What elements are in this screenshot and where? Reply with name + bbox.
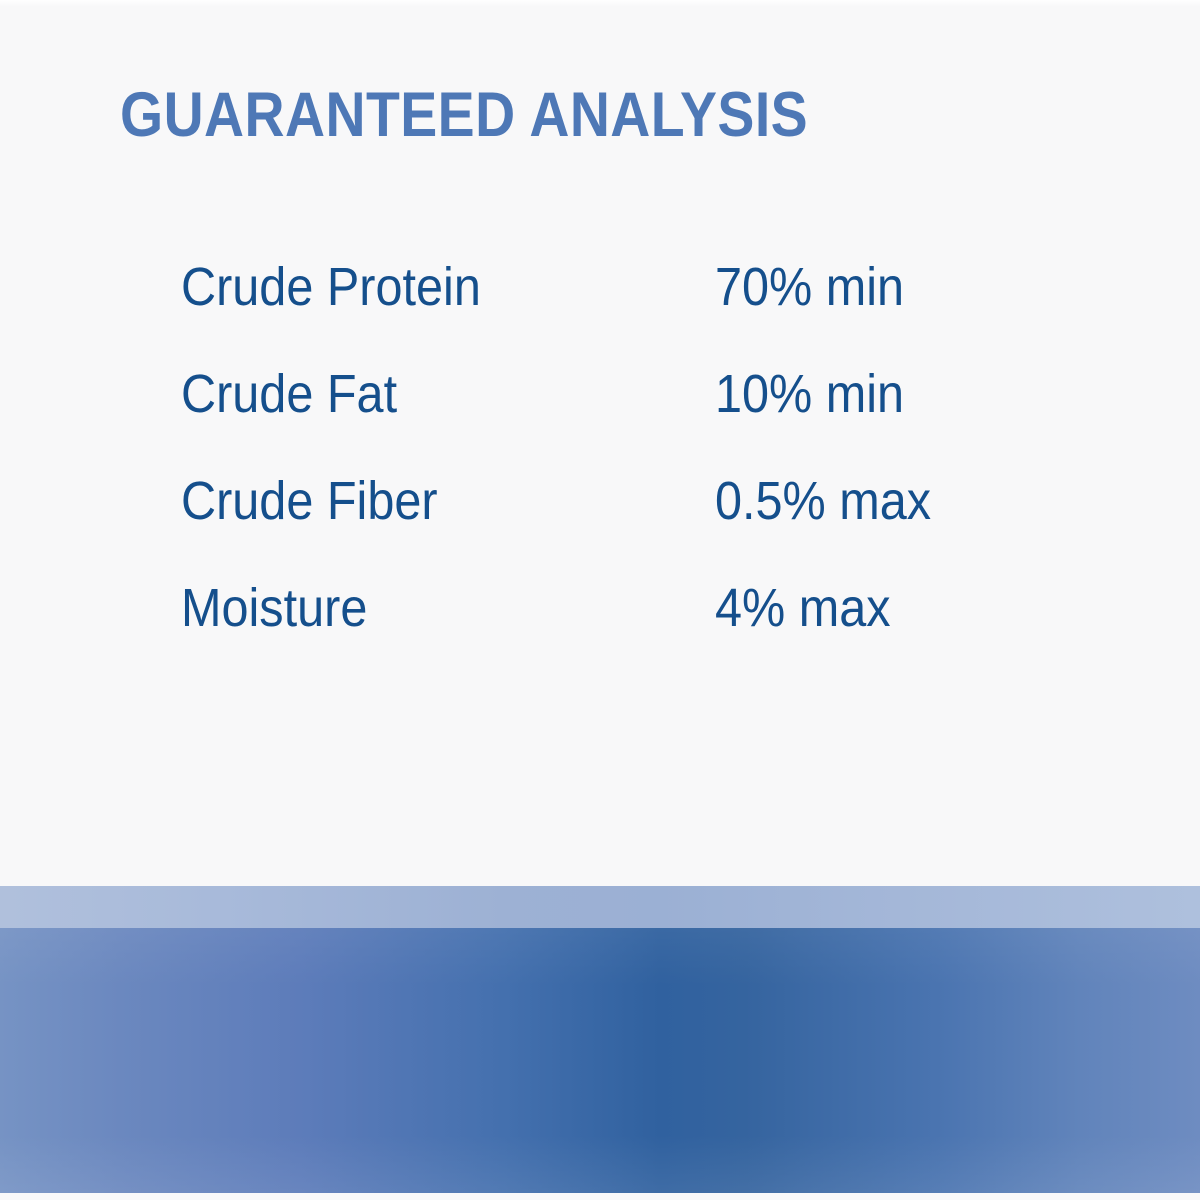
nutrient-label: Moisture bbox=[181, 579, 662, 637]
nutrient-value-cell: 70% min bbox=[715, 258, 1041, 365]
nutrient-name-cell: Crude Fat bbox=[181, 365, 715, 472]
nutrient-label: Crude Fat bbox=[181, 365, 662, 423]
table-body: Crude Protein 70% min Crude Fat 10% min bbox=[181, 258, 1041, 686]
nutrient-value-cell: 0.5% max bbox=[715, 472, 1041, 579]
table-row: Crude Fat 10% min bbox=[181, 365, 1041, 472]
guaranteed-analysis-table: Crude Protein 70% min Crude Fat 10% min bbox=[181, 258, 1041, 686]
table-row: Moisture 4% max bbox=[181, 579, 1041, 686]
nutrient-label: Crude Protein bbox=[181, 258, 662, 316]
footer-band-sheen bbox=[0, 928, 1200, 1193]
guaranteed-analysis-panel: GUARANTEED ANALYSIS Crude Protein 70% mi… bbox=[0, 0, 1200, 1200]
footer-main-band bbox=[0, 928, 1200, 1193]
nutrient-name-cell: Crude Protein bbox=[181, 258, 715, 365]
nutrient-value: 0.5% max bbox=[715, 472, 1008, 530]
nutrient-value: 4% max bbox=[715, 579, 1008, 637]
page-title: GUARANTEED ANALYSIS bbox=[120, 84, 808, 147]
footer-light-band bbox=[0, 886, 1200, 928]
nutrient-value: 10% min bbox=[715, 365, 1008, 423]
nutrient-value: 70% min bbox=[715, 258, 1008, 316]
footer-bottom-edge bbox=[0, 1193, 1200, 1200]
nutrient-name-cell: Moisture bbox=[181, 579, 715, 686]
nutrient-value-cell: 4% max bbox=[715, 579, 1041, 686]
table-row: Crude Protein 70% min bbox=[181, 258, 1041, 365]
nutrient-value-cell: 10% min bbox=[715, 365, 1041, 472]
nutrient-name-cell: Crude Fiber bbox=[181, 472, 715, 579]
table-row: Crude Fiber 0.5% max bbox=[181, 472, 1041, 579]
nutrient-label: Crude Fiber bbox=[181, 472, 662, 530]
top-edge-sheen bbox=[0, 0, 1200, 7]
